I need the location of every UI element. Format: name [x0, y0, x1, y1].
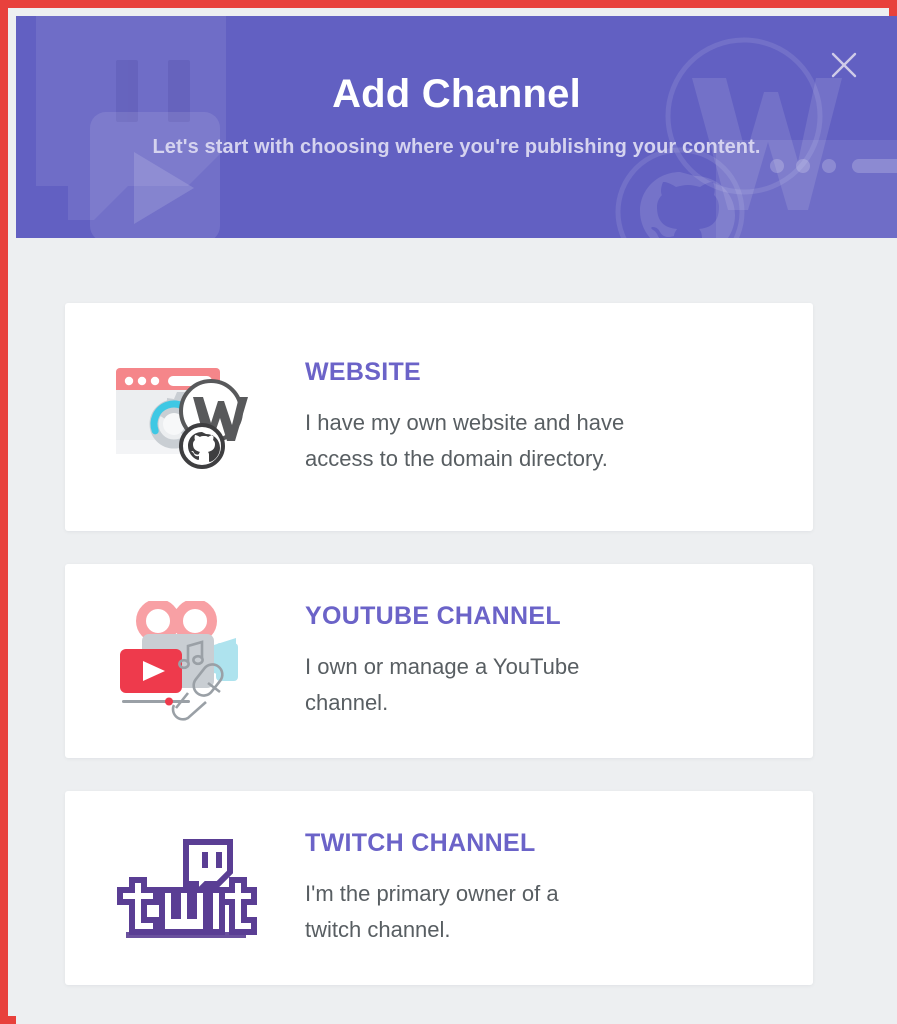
card-text-block: WEBSITE I have my own website and have a… [305, 358, 813, 476]
card-description: I own or manage a YouTube channel. [305, 649, 635, 720]
card-description: I have my own website and have access to… [305, 405, 625, 476]
page-subtitle: Let's start with choosing where you're p… [16, 136, 897, 159]
channel-option-twitch-channel[interactable]: TWITCH CHANNEL I'm the primary owner of … [65, 791, 813, 985]
channel-option-list: WEBSITE I have my own website and have a… [16, 238, 897, 1024]
screenshot-frame: Add Channel Let's start with choosing wh… [0, 0, 897, 1024]
website-icon-graphic [110, 354, 260, 480]
github-logo [181, 425, 223, 467]
card-text-block: YOUTUBE CHANNEL I own or manage a YouTub… [305, 602, 813, 720]
card-title: WEBSITE [305, 358, 773, 387]
channel-option-website[interactable]: WEBSITE I have my own website and have a… [65, 303, 813, 531]
twitch-channel-icon [65, 791, 305, 985]
website-icon [65, 303, 305, 531]
close-button[interactable] [827, 48, 861, 82]
youtube-play-button [120, 649, 182, 693]
twitch-glitch [186, 842, 230, 894]
twitch-wordmark-shadow [126, 932, 246, 938]
close-icon [829, 50, 859, 80]
page-title: Add Channel [16, 72, 897, 116]
card-description: I'm the primary owner of a twitch channe… [305, 876, 615, 947]
card-title: TWITCH CHANNEL [305, 829, 773, 858]
twitch-wordmark [120, 880, 254, 932]
modal-header: Add Channel Let's start with choosing wh… [16, 16, 897, 238]
youtube-channel-icon-graphic [112, 601, 258, 721]
twitch-channel-icon-graphic [110, 832, 260, 944]
youtube-channel-icon [65, 564, 305, 758]
channel-option-youtube-channel[interactable]: YOUTUBE CHANNEL I own or manage a YouTub… [65, 564, 813, 758]
card-title: YOUTUBE CHANNEL [305, 602, 773, 631]
add-channel-modal: Add Channel Let's start with choosing wh… [16, 16, 897, 1024]
card-text-block: TWITCH CHANNEL I'm the primary owner of … [305, 829, 813, 947]
